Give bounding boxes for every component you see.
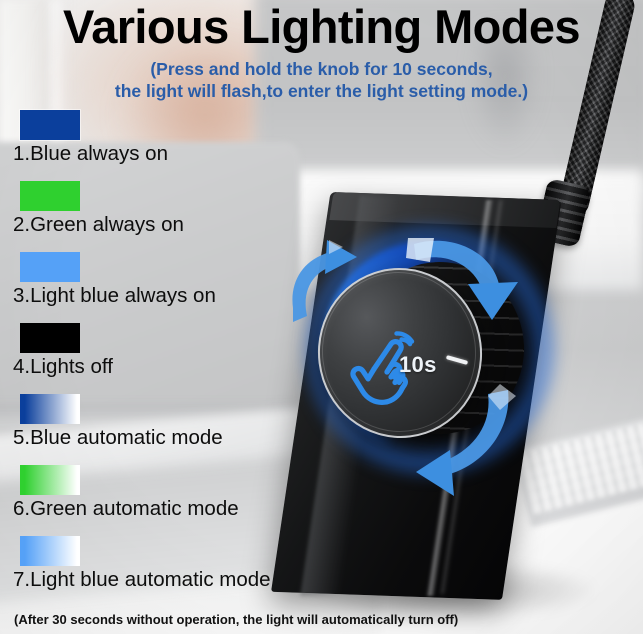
mode-label: 2.Green always on <box>13 211 184 239</box>
lighting-modes-list: 1.Blue always on2.Green always on3.Light… <box>0 110 330 607</box>
page-title: Various Lighting Modes <box>0 2 643 53</box>
mode-list-item: 7.Light blue automatic mode <box>0 536 330 607</box>
auto-off-footnote: (After 30 seconds without operation, the… <box>14 612 458 627</box>
page-subtitle: (Press and hold the knob for 10 seconds,… <box>0 59 643 103</box>
mode-color-swatch <box>20 252 80 282</box>
rotate-arrow-bottom-icon <box>404 380 524 498</box>
subtitle-line-2: the light will flash,to enter the light … <box>0 81 643 103</box>
mode-label: 1.Blue always on <box>13 140 168 168</box>
mode-color-swatch <box>20 536 80 566</box>
mode-color-swatch <box>20 394 80 424</box>
mode-list-item: 4.Lights off <box>0 323 330 394</box>
mode-color-swatch <box>20 110 80 140</box>
mode-list-item: 1.Blue always on <box>0 110 330 181</box>
mode-color-swatch <box>20 181 80 211</box>
infographic-canvas: 10s Various Lighting Modes (Press and ho… <box>0 0 643 634</box>
rotate-arrow-top-icon <box>400 228 520 336</box>
mode-color-swatch <box>20 323 80 353</box>
mode-label: 5.Blue automatic mode <box>13 424 223 452</box>
mode-label: 3.Light blue always on <box>13 282 216 310</box>
mode-label: 4.Lights off <box>13 353 113 381</box>
mode-color-swatch <box>20 465 80 495</box>
mode-list-item: 5.Blue automatic mode <box>0 394 330 465</box>
mode-list-item: 2.Green always on <box>0 181 330 252</box>
subtitle-line-1: (Press and hold the knob for 10 seconds, <box>150 59 492 79</box>
mode-list-item: 6.Green automatic mode <box>0 465 330 536</box>
mode-label: 6.Green automatic mode <box>13 495 239 523</box>
mode-list-item: 3.Light blue always on <box>0 252 330 323</box>
knob-duration-label: 10s <box>399 352 437 378</box>
mode-label: 7.Light blue automatic mode <box>13 566 271 594</box>
